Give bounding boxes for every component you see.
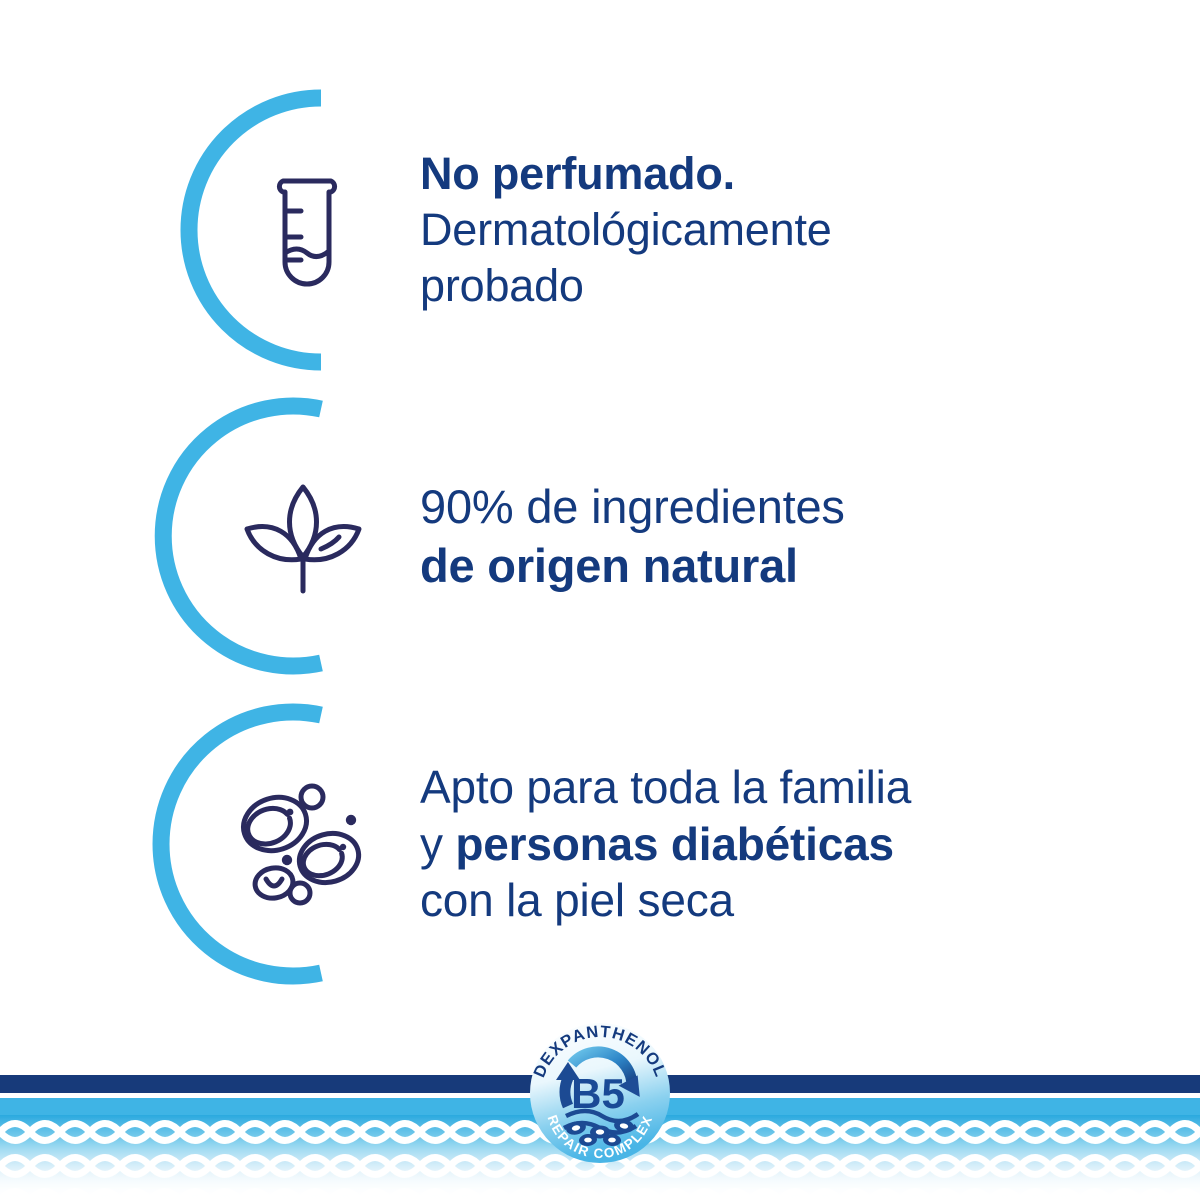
feature-badge-1 xyxy=(0,88,420,372)
test-tube-icon-holder xyxy=(232,155,382,305)
feature-line: No perfumado. xyxy=(420,146,1130,202)
feature-row-natural-origin: 90% de ingredientes de origen natural xyxy=(0,400,1200,672)
feature-badge-2 xyxy=(0,400,420,672)
bubbles-cells-icon-holder xyxy=(228,769,378,919)
feature-line: Dermatológicamente xyxy=(420,202,1130,258)
bubbles-cells-icon xyxy=(233,779,373,909)
feature-line: probado xyxy=(420,258,1130,314)
feature-row-fragrance-free: No perfumado. Dermatológicamente probado xyxy=(0,88,1200,372)
feature-text-3: Apto para toda la familia y personas dia… xyxy=(420,759,1200,929)
feature-row-family-diabetic: Apto para toda la familia y personas dia… xyxy=(0,706,1200,982)
feature-line-emphasis: personas diabéticas xyxy=(455,818,894,870)
promo-card: No perfumado. Dermatológicamente probado xyxy=(0,0,1200,1200)
feature-line: Apto para toda la familia xyxy=(420,759,1130,816)
feature-badge-3 xyxy=(0,706,420,982)
dexpanthenol-b5-badge: B5 DEXPANTHENOL xyxy=(528,1018,672,1168)
feature-text-2: 90% de ingredientes de origen natural xyxy=(420,477,1200,595)
feature-line: con la piel seca xyxy=(420,872,1130,929)
plant-leaf-icon-holder xyxy=(228,461,378,611)
feature-line: 90% de ingredientes xyxy=(420,477,1130,536)
plant-leaf-icon xyxy=(233,471,373,601)
feature-text-1: No perfumado. Dermatológicamente probado xyxy=(420,146,1200,313)
test-tube-icon xyxy=(257,165,357,295)
b5-badge-icon: B5 DEXPANTHENOL xyxy=(528,1018,672,1168)
feature-line: de origen natural xyxy=(420,536,1130,595)
